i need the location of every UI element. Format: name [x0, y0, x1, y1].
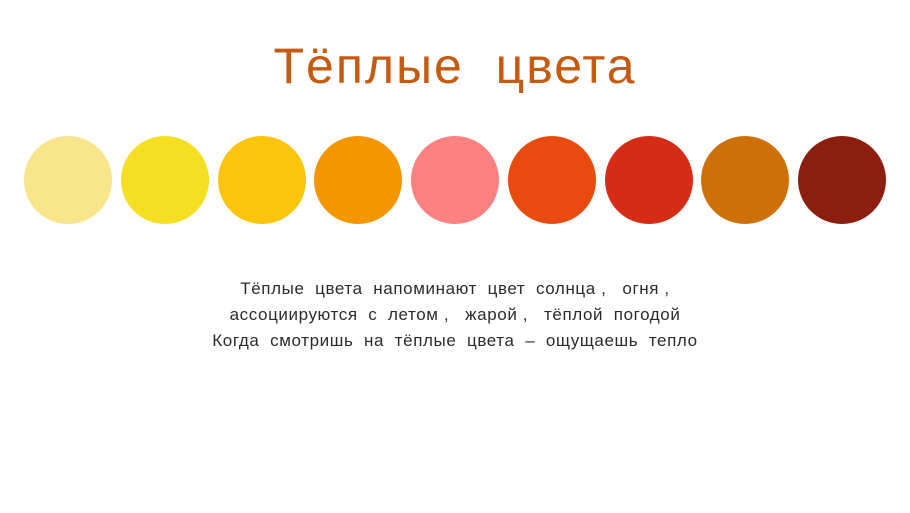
- swatch-golden-yellow: [218, 136, 306, 224]
- swatch-brick-red: [798, 136, 886, 224]
- body-line-2: ассоциируются с летом , жарой , тёплой п…: [0, 302, 910, 328]
- page-title: Тёплые цвета: [0, 36, 910, 96]
- swatch-yellow: [121, 136, 209, 224]
- swatch-pale-yellow: [24, 136, 112, 224]
- color-swatch-row: [24, 135, 886, 225]
- swatch-dark-orange: [701, 136, 789, 224]
- swatch-red: [605, 136, 693, 224]
- swatch-salmon-pink: [411, 136, 499, 224]
- swatch-orange-red: [508, 136, 596, 224]
- body-line-1: Тёплые цвета напоминают цвет солнца , ог…: [0, 276, 910, 302]
- swatch-orange: [314, 136, 402, 224]
- body-paragraph: Тёплые цвета напоминают цвет солнца , ог…: [0, 276, 910, 354]
- slide-canvas: Тёплые цвета Тёплые цвета напоминают цве…: [0, 0, 910, 513]
- body-line-3: Когда смотришь на тёплые цвета – ощущаеш…: [0, 328, 910, 354]
